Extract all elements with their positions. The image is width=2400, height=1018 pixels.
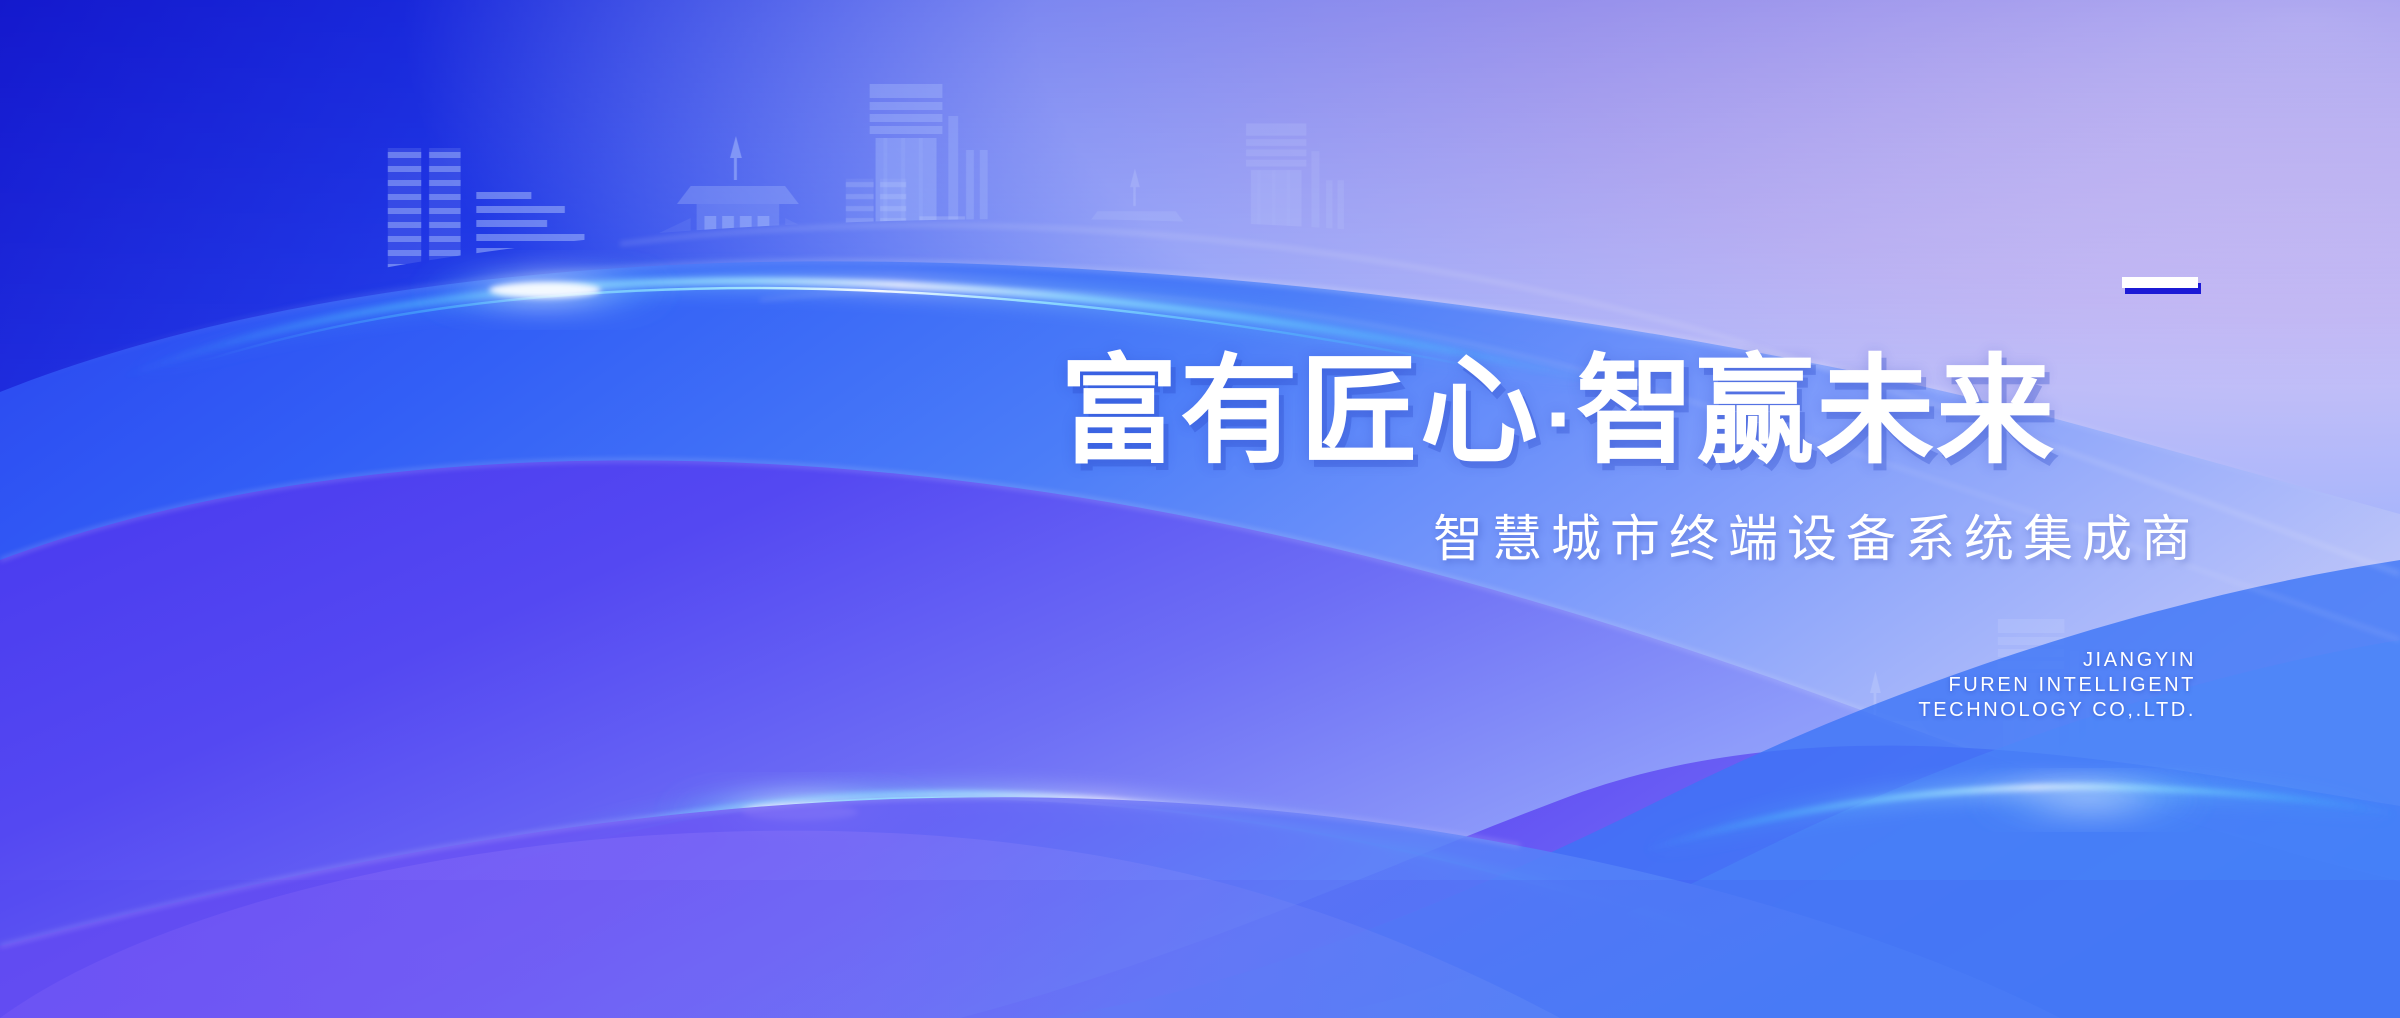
accent-bar-icon bbox=[2122, 277, 2198, 288]
decoration-layer bbox=[0, 0, 2400, 1018]
headline: 富有匠心·智赢未来 bbox=[1060, 352, 2200, 470]
company-line-1: JIANGYIN bbox=[1700, 648, 2196, 673]
company-line-2: FUREN INTELLIGENT bbox=[1700, 673, 2196, 698]
headline-part-left: 富有匠心 bbox=[1060, 342, 1540, 480]
headline-part-right: 智赢未来 bbox=[1576, 342, 2056, 480]
company-line-3: TECHNOLOGY CO,.LTD. bbox=[1700, 698, 2196, 723]
company-name: JIANGYIN FUREN INTELLIGENT TECHNOLOGY CO… bbox=[1700, 648, 2196, 723]
headline-separator-dot: · bbox=[1540, 377, 1576, 463]
bottom-vignette bbox=[0, 880, 2400, 1018]
subtitle: 智慧城市终端设备系统集成商 bbox=[1060, 512, 2200, 567]
banner-root: 富有匠心·智赢未来 智慧城市终端设备系统集成商 JIANGYIN FUREN I… bbox=[0, 0, 2400, 1018]
